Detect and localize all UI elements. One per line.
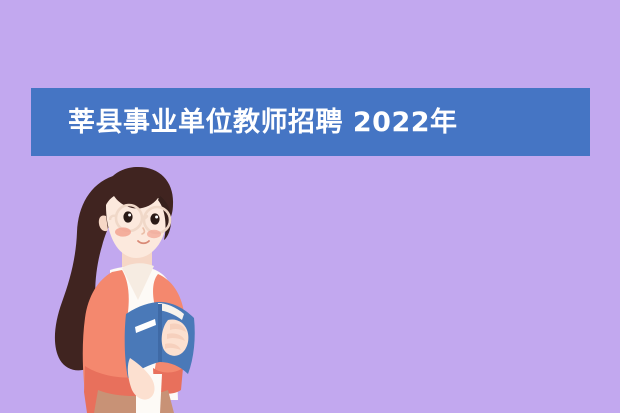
book-spine-shadow (158, 304, 162, 362)
reading-girl-illustration (40, 162, 240, 413)
right-eye-icon (150, 213, 159, 224)
glasses-bridge-icon (142, 216, 147, 219)
left-cheek-blush (115, 227, 131, 236)
right-cheek-blush (147, 230, 161, 238)
title-banner: 莘县事业单位教师招聘 2022年 (31, 88, 590, 156)
page-title: 莘县事业单位教师招聘 2022年 (68, 109, 458, 136)
poster-canvas: 莘县事业单位教师招聘 2022年 (0, 0, 620, 413)
left-eye-highlight-icon (128, 214, 131, 217)
left-eye-icon (123, 211, 132, 222)
right-eye-highlight-icon (155, 216, 158, 219)
